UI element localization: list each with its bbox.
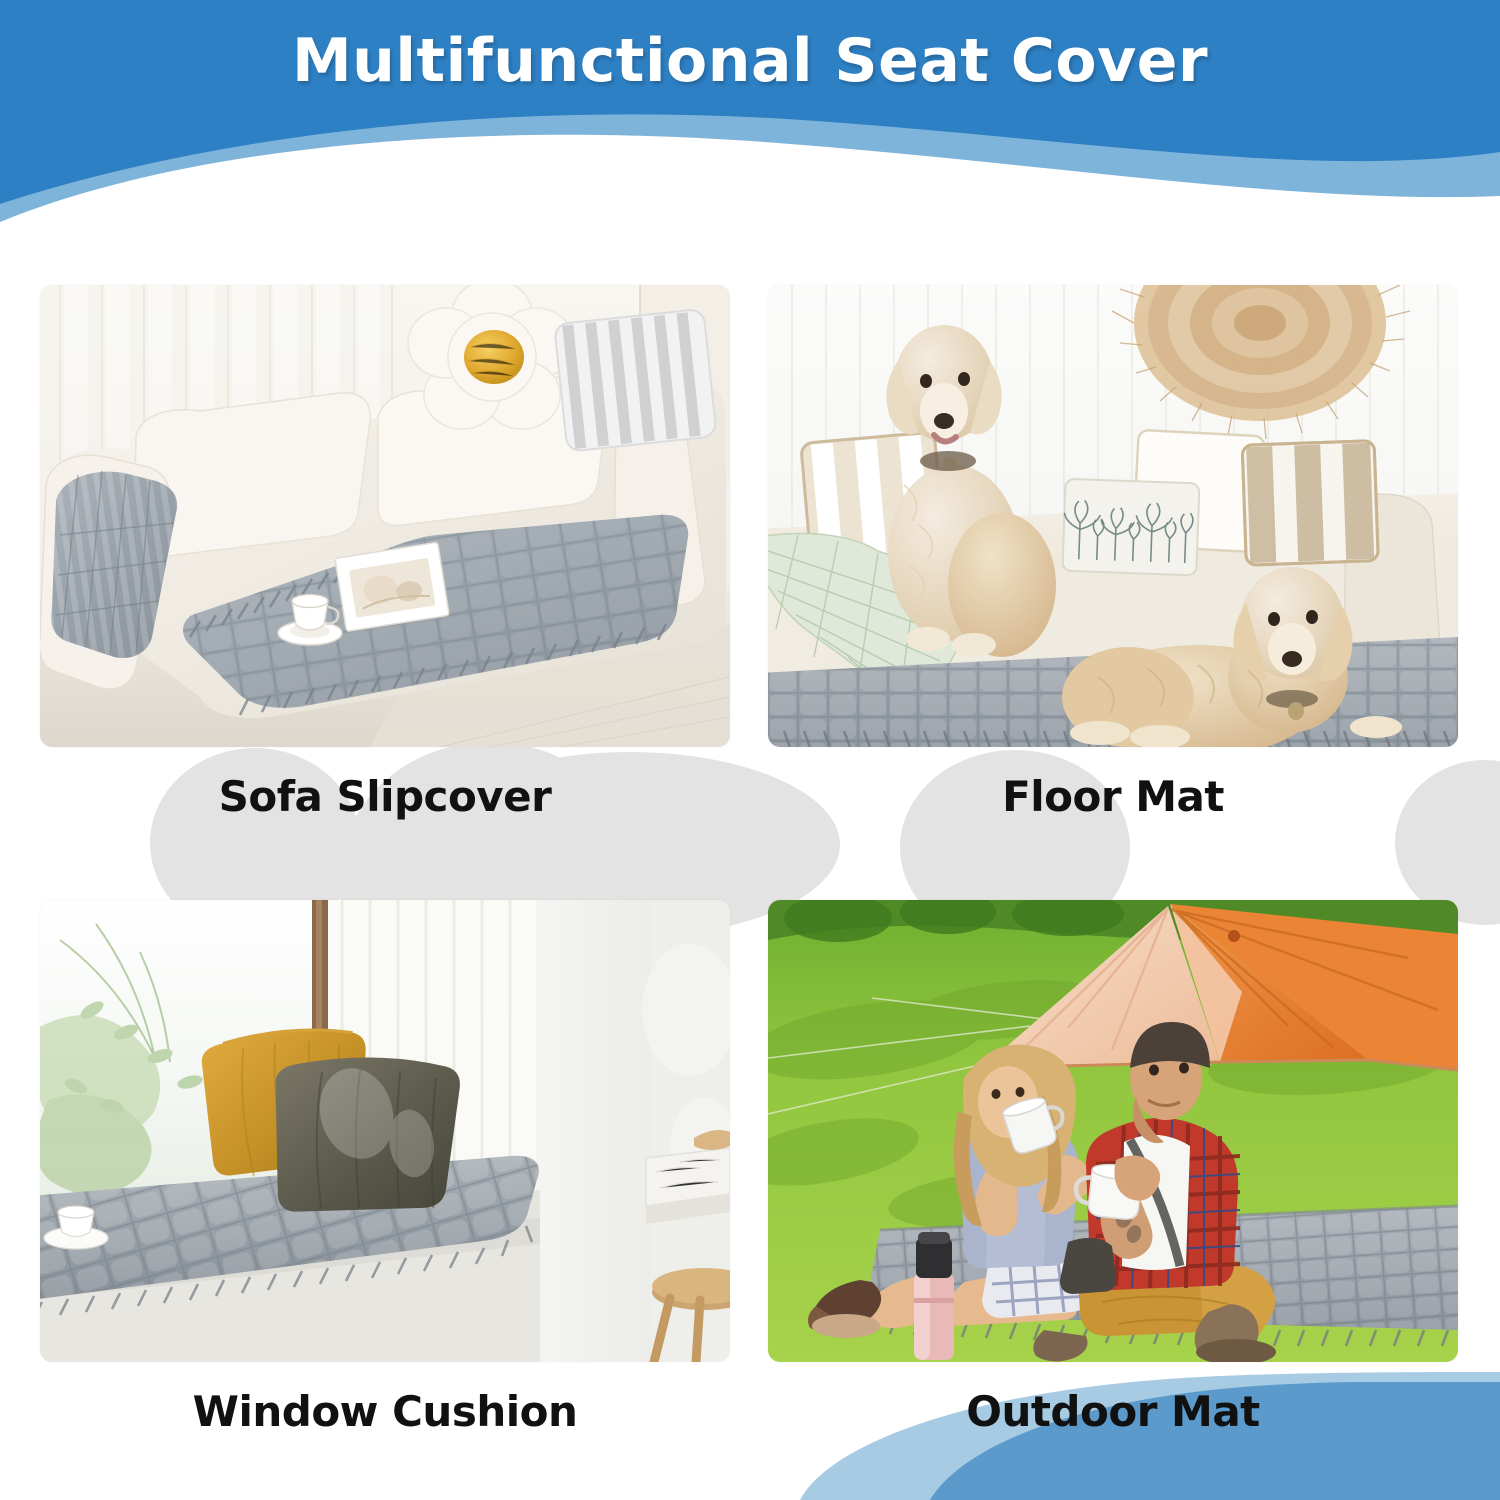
card-sofa-slipcover[interactable]: Sofa Slipcover	[40, 285, 730, 845]
photo-window-cushion	[40, 900, 730, 1362]
card-caption-outdoor-mat: Outdoor Mat	[768, 1387, 1458, 1436]
card-window-cushion[interactable]: Window Cushion	[40, 900, 730, 1460]
card-caption-floor-mat: Floor Mat	[768, 772, 1458, 821]
card-caption-sofa-slipcover: Sofa Slipcover	[40, 772, 730, 821]
product-use-grid: Sofa Slipcover	[0, 0, 1500, 1500]
card-outdoor-mat[interactable]: Outdoor Mat	[768, 900, 1458, 1460]
photo-outdoor-mat	[768, 900, 1458, 1362]
card-floor-mat[interactable]: Floor Mat	[768, 285, 1458, 845]
photo-sofa-slipcover	[40, 285, 730, 747]
photo-floor-mat	[768, 285, 1458, 747]
card-caption-window-cushion: Window Cushion	[40, 1387, 730, 1436]
